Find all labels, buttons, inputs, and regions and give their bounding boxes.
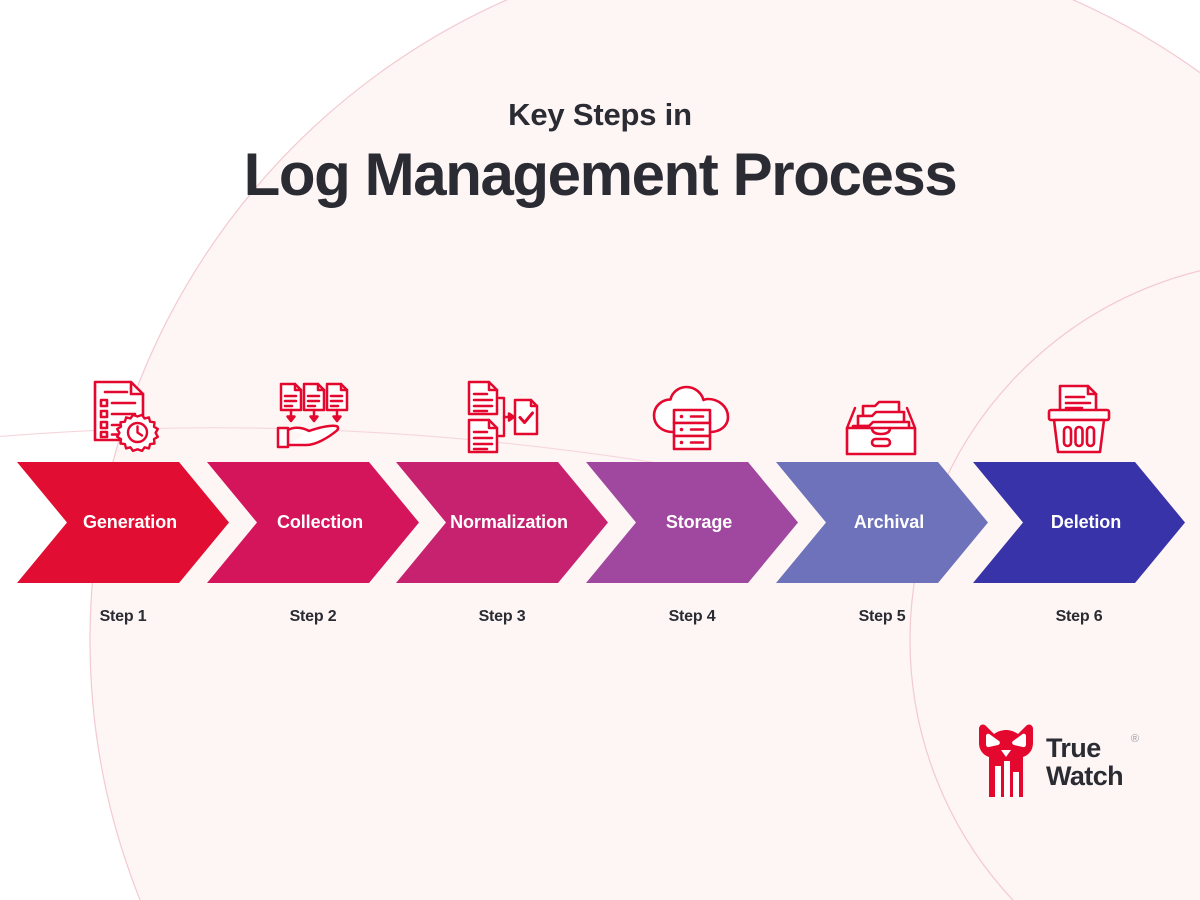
- document-gear-clock-icon: [17, 378, 229, 456]
- logo-wordmark: True Watch ®: [1046, 734, 1123, 791]
- cloud-database-icon: [586, 378, 798, 456]
- title-headline: Log Management Process: [0, 141, 1200, 208]
- title-eyebrow: Key Steps in: [0, 98, 1200, 132]
- step-caption-4: Step 4: [586, 608, 798, 626]
- logo-line-watch: Watch: [1046, 762, 1123, 790]
- documents-to-verified-document-icon: [396, 378, 608, 456]
- page-title: Key Steps in Log Management Process: [0, 98, 1200, 208]
- registered-trademark-icon: ®: [1131, 733, 1139, 745]
- step-caption-6: Step 6: [973, 608, 1185, 626]
- step-caption-2: Step 2: [207, 608, 419, 626]
- trash-bin-document-icon: [973, 378, 1185, 456]
- step-caption-1: Step 1: [17, 608, 229, 626]
- step-caption-5: Step 5: [776, 608, 988, 626]
- logo-line-true: True: [1046, 734, 1123, 762]
- brand-logo[interactable]: True Watch ®: [975, 723, 1123, 801]
- documents-to-hand-icon: [207, 378, 419, 456]
- owl-icon: [975, 723, 1037, 801]
- file-drawer-archive-icon: [776, 378, 988, 456]
- step-caption-3: Step 3: [396, 608, 608, 626]
